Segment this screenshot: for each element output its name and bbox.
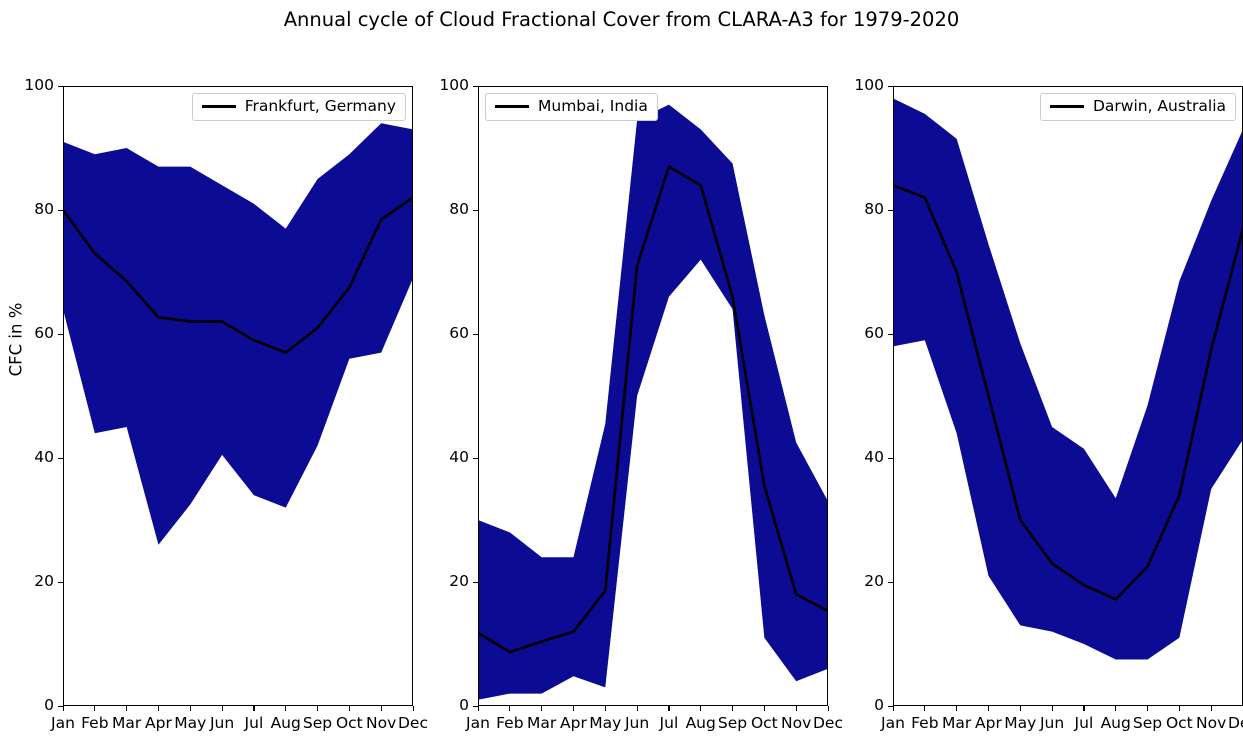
y-tick-label: 60 (449, 324, 469, 342)
x-tick-label-aug: Aug (1101, 714, 1131, 732)
x-tick-mark (828, 706, 829, 711)
x-tick-mark (1211, 706, 1212, 711)
x-tick-mark (1083, 706, 1084, 711)
x-tick-label-jan: Jan (51, 714, 75, 732)
subplot-1: 020406080100JanFebMarAprMayJunJulAugSepO… (63, 86, 413, 706)
range-band (63, 123, 413, 545)
x-tick-label-jul: Jul (660, 714, 679, 732)
y-tick-label: 20 (34, 572, 54, 590)
y-tick-mark (58, 458, 63, 459)
x-tick-mark (573, 706, 574, 711)
y-tick-label: 60 (864, 324, 884, 342)
x-tick-mark (893, 706, 894, 711)
x-tick-mark (126, 706, 127, 711)
y-tick-label: 60 (34, 324, 54, 342)
y-tick-mark (888, 334, 893, 335)
x-tick-mark (541, 706, 542, 711)
x-tick-label-mar: Mar (942, 714, 971, 732)
y-tick-label: 0 (459, 696, 469, 714)
y-axis-label: CFC in % (7, 280, 26, 400)
x-tick-label-nov: Nov (781, 714, 811, 732)
plot-area (63, 86, 413, 706)
y-tick-label: 100 (854, 76, 884, 94)
x-tick-mark (668, 706, 669, 711)
x-tick-mark (413, 706, 414, 711)
y-tick-label: 40 (864, 448, 884, 466)
y-tick-label: 0 (874, 696, 884, 714)
x-tick-label-dec: Dec (1228, 714, 1243, 732)
x-tick-label-dec: Dec (398, 714, 428, 732)
y-tick-mark (58, 210, 63, 211)
x-tick-mark (956, 706, 957, 711)
y-tick-mark (888, 210, 893, 211)
x-tick-label-dec: Dec (813, 714, 843, 732)
x-tick-label-mar: Mar (527, 714, 556, 732)
x-tick-mark (285, 706, 286, 711)
y-tick-label: 80 (864, 200, 884, 218)
x-tick-mark (63, 706, 64, 711)
x-tick-mark (158, 706, 159, 711)
x-tick-label-feb: Feb (496, 714, 523, 732)
y-tick-label: 40 (34, 448, 54, 466)
x-tick-mark (1020, 706, 1021, 711)
y-tick-mark (473, 86, 478, 87)
x-tick-label-apr: Apr (975, 714, 1002, 732)
figure-canvas: Annual cycle of Cloud Fractional Cover f… (0, 0, 1243, 739)
legend-line-icon (495, 105, 529, 108)
x-tick-label-aug: Aug (271, 714, 301, 732)
x-tick-mark (1052, 706, 1053, 711)
x-tick-mark (637, 706, 638, 711)
x-tick-label-sep: Sep (303, 714, 332, 732)
y-tick-label: 20 (864, 572, 884, 590)
x-tick-mark (605, 706, 606, 711)
x-tick-label-oct: Oct (751, 714, 778, 732)
y-tick-label: 100 (439, 76, 469, 94)
y-tick-label: 100 (24, 76, 54, 94)
x-tick-mark (700, 706, 701, 711)
y-tick-mark (473, 334, 478, 335)
x-tick-label-feb: Feb (911, 714, 938, 732)
plot-area (478, 86, 828, 706)
x-tick-label-jun: Jun (625, 714, 649, 732)
legend-label: Mumbai, India (538, 99, 648, 115)
y-tick-mark (888, 86, 893, 87)
x-tick-label-may: May (174, 714, 206, 732)
y-tick-mark (58, 86, 63, 87)
y-tick-mark (473, 458, 478, 459)
y-tick-mark (58, 582, 63, 583)
x-tick-mark (1147, 706, 1148, 711)
x-tick-label-jan: Jan (466, 714, 490, 732)
range-band (478, 105, 828, 700)
x-tick-label-mar: Mar (112, 714, 141, 732)
x-tick-mark (764, 706, 765, 711)
x-tick-label-nov: Nov (1196, 714, 1226, 732)
x-tick-mark (381, 706, 382, 711)
legend-label: Frankfurt, Germany (245, 99, 396, 115)
legend-line-icon (202, 105, 236, 108)
legend[interactable]: Darwin, Australia (1040, 93, 1236, 121)
x-tick-mark (796, 706, 797, 711)
legend-label: Darwin, Australia (1093, 99, 1226, 115)
y-tick-label: 80 (34, 200, 54, 218)
y-tick-mark (888, 582, 893, 583)
x-tick-mark (222, 706, 223, 711)
plot-area (893, 86, 1243, 706)
x-tick-mark (253, 706, 254, 711)
x-tick-mark (94, 706, 95, 711)
x-tick-label-sep: Sep (1133, 714, 1162, 732)
x-tick-label-jul: Jul (1075, 714, 1094, 732)
x-tick-mark (1115, 706, 1116, 711)
x-tick-label-oct: Oct (1166, 714, 1193, 732)
x-tick-label-apr: Apr (560, 714, 587, 732)
x-tick-label-sep: Sep (718, 714, 747, 732)
subplot-2: 020406080100JanFebMarAprMayJunJulAugSepO… (478, 86, 828, 706)
x-tick-mark (988, 706, 989, 711)
legend[interactable]: Mumbai, India (485, 93, 658, 121)
x-tick-mark (509, 706, 510, 711)
x-tick-label-oct: Oct (336, 714, 363, 732)
x-tick-label-jun: Jun (1040, 714, 1064, 732)
y-tick-label: 0 (44, 696, 54, 714)
x-tick-label-may: May (589, 714, 621, 732)
y-tick-mark (58, 334, 63, 335)
x-tick-mark (732, 706, 733, 711)
x-tick-mark (190, 706, 191, 711)
page-title: Annual cycle of Cloud Fractional Cover f… (0, 8, 1243, 31)
x-tick-mark (478, 706, 479, 711)
y-tick-mark (473, 210, 478, 211)
x-tick-mark (1179, 706, 1180, 711)
x-tick-label-jun: Jun (210, 714, 234, 732)
x-tick-label-jul: Jul (245, 714, 264, 732)
x-tick-label-nov: Nov (366, 714, 396, 732)
x-tick-mark (349, 706, 350, 711)
x-tick-label-feb: Feb (81, 714, 108, 732)
subplot-3: 020406080100JanFebMarAprMayJunJulAugSepO… (893, 86, 1243, 706)
x-tick-label-apr: Apr (145, 714, 172, 732)
legend-line-icon (1050, 105, 1084, 108)
y-tick-label: 20 (449, 572, 469, 590)
x-tick-mark (317, 706, 318, 711)
y-tick-mark (888, 458, 893, 459)
legend[interactable]: Frankfurt, Germany (192, 93, 406, 121)
y-tick-label: 80 (449, 200, 469, 218)
x-tick-label-aug: Aug (686, 714, 716, 732)
x-tick-label-jan: Jan (881, 714, 905, 732)
x-tick-mark (924, 706, 925, 711)
x-tick-label-may: May (1004, 714, 1036, 732)
y-tick-mark (473, 582, 478, 583)
y-tick-label: 40 (449, 448, 469, 466)
